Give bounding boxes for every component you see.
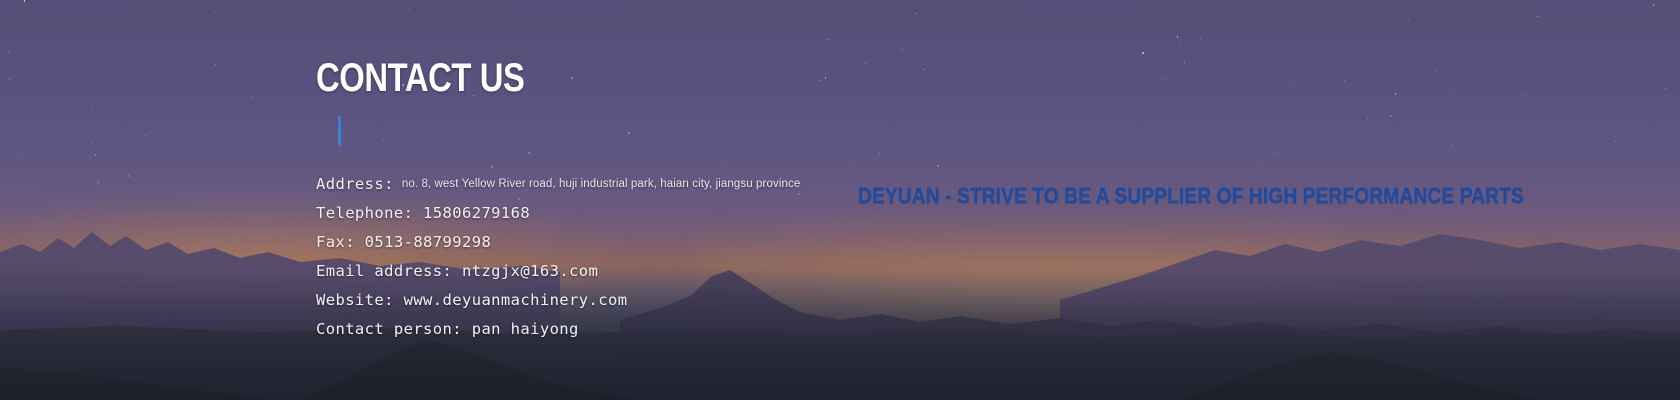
accent-bar — [338, 116, 341, 146]
contact-block: CONTACT US Address:no. 8, west Yellow Ri… — [316, 56, 876, 344]
contact-detail-row: Telephone: 15806279168 — [316, 199, 876, 228]
contact-detail-row: Fax: 0513-88799298 — [316, 228, 876, 257]
contact-detail-row: Address:no. 8, west Yellow River road, h… — [316, 170, 876, 199]
contact-detail-value: www.deyuanmachinery.com — [394, 291, 628, 309]
contact-detail-value: ntzgjx@163.com — [452, 262, 598, 280]
contact-detail-value: pan haiyong — [462, 320, 579, 338]
contact-detail-label: Email address: — [316, 262, 452, 280]
contact-detail-row: Contact person: pan haiyong — [316, 315, 876, 344]
banner-content: CONTACT US Address:no. 8, west Yellow Ri… — [0, 0, 1680, 400]
contact-detail-label: Website: — [316, 291, 394, 309]
contact-detail-row: Website: www.deyuanmachinery.com — [316, 286, 876, 315]
contact-detail-row: Email address: ntzgjx@163.com — [316, 257, 876, 286]
contact-detail-label: Fax: — [316, 233, 355, 251]
page-title: CONTACT US — [316, 56, 775, 100]
contact-detail-label: Contact person: — [316, 320, 462, 338]
contact-detail-label: Telephone: — [316, 204, 413, 222]
contact-detail-value: no. 8, west Yellow River road, huji indu… — [402, 178, 800, 190]
contact-detail-value: 15806279168 — [413, 204, 530, 222]
contact-detail-value: 0513-88799298 — [355, 233, 491, 251]
contact-banner: CONTACT US Address:no. 8, west Yellow Ri… — [0, 0, 1680, 400]
company-slogan: DEYUAN - STRIVE TO BE A SUPPLIER OF HIGH… — [858, 183, 1524, 209]
contact-details-list: Address:no. 8, west Yellow River road, h… — [316, 170, 876, 344]
contact-detail-label: Address: — [316, 175, 394, 193]
